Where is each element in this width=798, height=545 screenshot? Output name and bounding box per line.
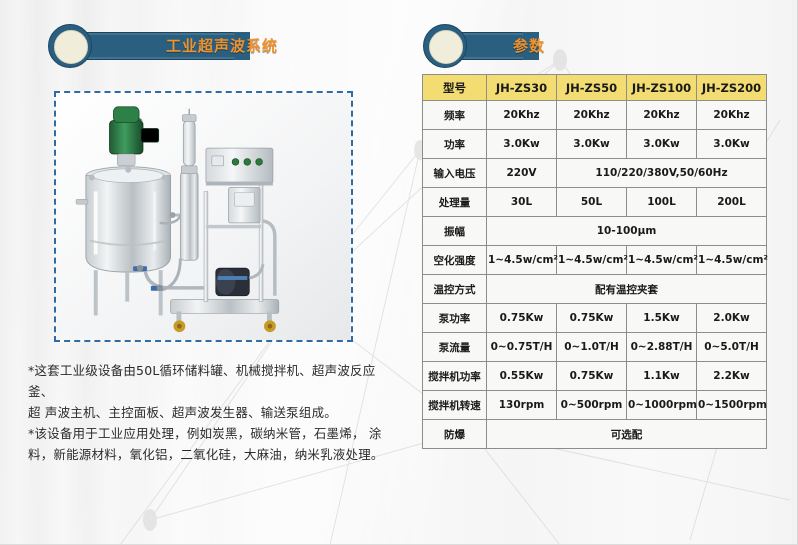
table-row-label: 泵流量: [423, 333, 487, 362]
table-cell: 1~4.5w/cm²: [487, 246, 557, 275]
table-row-label: 搅拌机转速: [423, 391, 487, 420]
table-cell: 3.0Kw: [487, 130, 557, 159]
table-cell: 0.75Kw: [487, 304, 557, 333]
table-header-zs50: JH-ZS50: [557, 75, 627, 101]
table-cell: 0.75Kw: [557, 362, 627, 391]
banner-left-medallion-inner: [54, 30, 88, 64]
table-cell: 1.1Kw: [627, 362, 697, 391]
banner-right-medallion-inner: [429, 30, 463, 64]
table-row-label: 防爆: [423, 420, 487, 449]
table-row: 搅拌机功率0.55Kw0.75Kw1.1Kw2.2Kw: [423, 362, 767, 391]
table-cell: 50L: [557, 188, 627, 217]
table-cell: 0~1500rpm: [697, 391, 767, 420]
table-cell: 0~2.88T/H: [627, 333, 697, 362]
table-row: 搅拌机转速130rpm0~500rpm0~1000rpm0~1500rpm: [423, 391, 767, 420]
table-row: 处理量30L50L100L200L: [423, 188, 767, 217]
table-cell: 20Khz: [487, 101, 557, 130]
table-cell: 130rpm: [487, 391, 557, 420]
table-header-zs200: JH-ZS200: [697, 75, 767, 101]
table-cell: 0~0.75T/H: [487, 333, 557, 362]
table-cell: 0~1000rpm: [627, 391, 697, 420]
table-row-label: 空化强度: [423, 246, 487, 275]
table-cell: 110/220/380V,50/60Hz: [557, 159, 767, 188]
table-cell: 1~4.5w/cm²: [697, 246, 767, 275]
table-header-zs100: JH-ZS100: [627, 75, 697, 101]
table-row: 泵流量0~0.75T/H0~1.0T/H0~2.88T/H0~5.0T/H: [423, 333, 767, 362]
table-cell: 0.75Kw: [557, 304, 627, 333]
table-row: 温控方式配有温控夹套: [423, 275, 767, 304]
product-spec-page: 工业超声波系统 参数: [0, 0, 798, 545]
table-cell: 220V: [487, 159, 557, 188]
table-header-row: 型号 JH-ZS30 JH-ZS50 JH-ZS100 JH-ZS200: [423, 75, 767, 101]
table-row-label: 功率: [423, 130, 487, 159]
specification-table: 型号 JH-ZS30 JH-ZS50 JH-ZS100 JH-ZS200 频率2…: [422, 74, 767, 449]
table-cell: 20Khz: [557, 101, 627, 130]
table-cell: 1~4.5w/cm²: [627, 246, 697, 275]
table-cell: 20Khz: [697, 101, 767, 130]
description-line-1: *这套工业级设备由50L循环储料罐、机械搅拌机、超声波反应釜、: [28, 360, 388, 402]
table-cell: 配有温控夹套: [487, 275, 767, 304]
table-row-label: 温控方式: [423, 275, 487, 304]
table-row-label: 处理量: [423, 188, 487, 217]
table-cell: 2.0Kw: [697, 304, 767, 333]
table-cell: 0.55Kw: [487, 362, 557, 391]
table-row-label: 输入电压: [423, 159, 487, 188]
product-description: *这套工业级设备由50L循环储料罐、机械搅拌机、超声波反应釜、 超 声波主机、主…: [28, 360, 388, 465]
banner-right-title: 参数: [513, 32, 545, 60]
banner-left-title: 工业超声波系统: [166, 32, 278, 60]
table-row-label: 泵功率: [423, 304, 487, 333]
table-row-label: 频率: [423, 101, 487, 130]
table-row: 振幅10-100μm: [423, 217, 767, 246]
table-row: 频率20Khz20Khz20Khz20Khz: [423, 101, 767, 130]
table-cell: 2.2Kw: [697, 362, 767, 391]
table-cell: 3.0Kw: [557, 130, 627, 159]
description-line-2: 超 声波主机、主控面板、超声波发生器、输送泵组成。: [28, 402, 388, 423]
equipment-photo-frame: [54, 91, 353, 342]
table-cell: 200L: [697, 188, 767, 217]
table-row: 功率3.0Kw3.0Kw3.0Kw3.0Kw: [423, 130, 767, 159]
table-cell: 1.5Kw: [627, 304, 697, 333]
table-cell: 100L: [627, 188, 697, 217]
banner-right-medallion: [423, 24, 467, 68]
table-cell: 10-100μm: [487, 217, 767, 246]
table-row: 泵功率0.75Kw0.75Kw1.5Kw2.0Kw: [423, 304, 767, 333]
description-line-3: *该设备用于工业应用处理，例如炭黑，碳纳米管，石墨烯， 涂: [28, 423, 388, 444]
table-row: 空化强度1~4.5w/cm²1~4.5w/cm²1~4.5w/cm²1~4.5w…: [423, 246, 767, 275]
table-cell: 3.0Kw: [697, 130, 767, 159]
description-line-4: 料，新能源材料，氧化铝，二氧化硅，大麻油，纳米乳液处理。: [28, 444, 388, 465]
table-cell: 可选配: [487, 420, 767, 449]
banner-left-medallion: [48, 24, 92, 68]
table-row: 输入电压220V110/220/380V,50/60Hz: [423, 159, 767, 188]
table-header-model: 型号: [423, 75, 487, 101]
table-cell: 0~500rpm: [557, 391, 627, 420]
table-row-label: 搅拌机功率: [423, 362, 487, 391]
table-header-zs30: JH-ZS30: [487, 75, 557, 101]
table-row: 防爆可选配: [423, 420, 767, 449]
table-cell: 3.0Kw: [627, 130, 697, 159]
table-body: 频率20Khz20Khz20Khz20Khz功率3.0Kw3.0Kw3.0Kw3…: [423, 101, 767, 449]
table-cell: 0~1.0T/H: [557, 333, 627, 362]
table-cell: 0~5.0T/H: [697, 333, 767, 362]
table-cell: 20Khz: [627, 101, 697, 130]
table-row-label: 振幅: [423, 217, 487, 246]
table-cell: 30L: [487, 188, 557, 217]
industrial-ultrasonic-system-photo: [56, 93, 351, 340]
table-cell: 1~4.5w/cm²: [557, 246, 627, 275]
